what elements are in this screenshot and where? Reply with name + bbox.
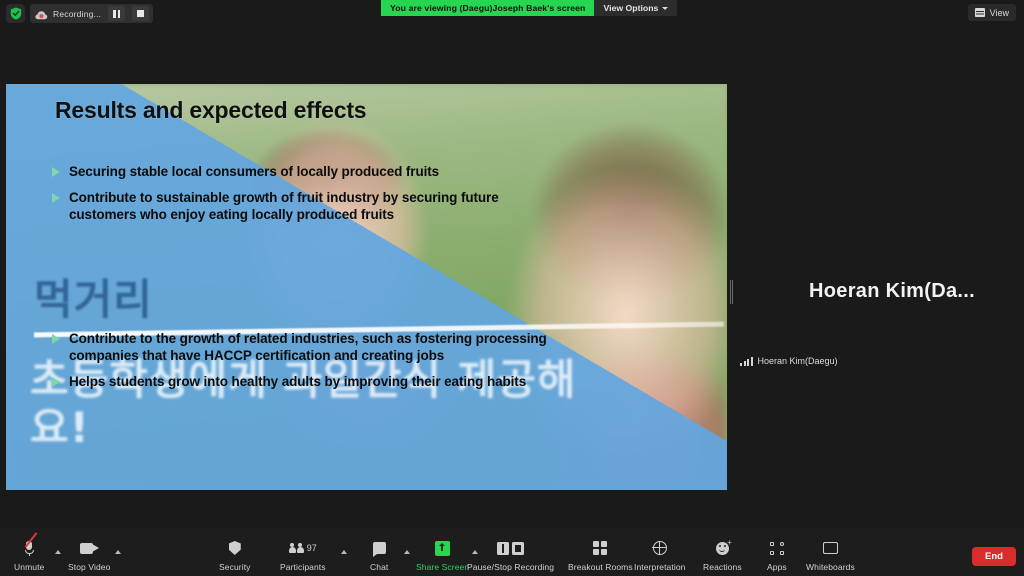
toolbar-label-interpretation: Interpretation [634,562,686,572]
participant-name-tag: Hoeran Kim(Daegu) [740,356,838,366]
bullet-triangle-icon [52,193,60,203]
toolbar-button-breakout-rooms[interactable]: Breakout Rooms [568,537,633,572]
chevron-down-icon [662,7,668,10]
layout-grid-icon [975,8,985,17]
chevron-up-icon [55,550,61,554]
toolbar-label-whiteboards: Whiteboards [806,562,855,572]
slide-bullet-item: Contribute to the growth of related indu… [52,330,552,364]
grid-squares-icon [593,537,607,559]
bullet-text: Helps students grow into healthy adults … [69,373,526,390]
active-speaker-panel[interactable]: Hoeran Kim(Da... Hoeran Kim(Daegu) [735,26,1024,524]
shield-icon [229,537,241,559]
toolbar-button-interpretation[interactable]: Interpretation [634,537,686,572]
toolbar-button-stop-video[interactable]: Stop Video [68,537,110,572]
toolbar-button-pause-stop-recording[interactable]: Pause/Stop Recording [467,537,554,572]
toolbar-label-breakout-rooms: Breakout Rooms [568,562,633,572]
toolbar-button-reactions[interactable]: + Reactions [703,537,742,572]
slide-title: Results and expected effects [55,97,366,124]
toolbar-button-share-screen[interactable]: Share Screen [416,537,469,572]
end-meeting-button[interactable]: End [972,547,1016,566]
participant-tag-label: Hoeran Kim(Daegu) [758,356,838,366]
toolbar-button-chat[interactable]: Chat [370,537,388,572]
view-layout-button[interactable]: View [968,4,1016,21]
globe-icon [653,537,667,559]
microphone-muted-icon [25,537,34,559]
apps-icon [770,537,784,559]
chat-options-caret[interactable] [404,550,410,554]
slide-bullet-item: Contribute to sustainable growth of frui… [52,189,552,223]
top-bar: Recording... You are viewing (Daegu)Jose… [0,0,1024,26]
bullet-text: Contribute to the growth of related indu… [69,330,552,364]
signal-bars-icon [740,357,753,366]
people-icon: 97 [289,537,317,559]
chevron-up-icon [404,550,410,554]
view-button-label: View [990,8,1009,18]
toolbar-label-pause-stop-recording: Pause/Stop Recording [467,562,554,572]
bullet-text: Securing stable local consumers of local… [69,163,439,180]
toolbar-label-reactions: Reactions [703,562,742,572]
video-options-caret[interactable] [115,550,121,554]
panel-drag-handle[interactable] [730,280,733,304]
meeting-toolbar: Unmute Stop Video Security 97 Participan… [0,528,1024,576]
smiley-plus-icon: + [716,537,729,559]
recording-label: Recording... [53,9,101,19]
bullet-triangle-icon [52,334,60,344]
bullet-text: Contribute to sustainable growth of frui… [69,189,552,223]
participants-options-caret[interactable] [341,550,347,554]
toolbar-button-unmute[interactable]: Unmute [14,537,44,572]
toolbar-button-security[interactable]: Security [219,537,251,572]
toolbar-label-apps: Apps [767,562,787,572]
recording-indicator-group: Recording... [6,4,153,23]
zoom-meeting-window: Recording... You are viewing (Daegu)Jose… [0,0,1024,576]
view-options-button[interactable]: View Options [594,0,677,16]
toolbar-label-share-screen: Share Screen [416,562,469,572]
pause-stop-icon [497,537,524,559]
active-speaker-name: Hoeran Kim(Da... [777,280,1007,303]
toolbar-label-unmute: Unmute [14,562,44,572]
toolbar-label-chat: Chat [370,562,388,572]
toolbar-label-security: Security [219,562,251,572]
slide-bullet-item: Helps students grow into healthy adults … [52,373,552,390]
view-options-label: View Options [603,3,658,13]
viewing-banner-group: You are viewing (Daegu)Joseph Baek's scr… [381,0,677,16]
unmute-options-caret[interactable] [55,550,61,554]
shield-check-icon[interactable] [6,4,25,23]
participants-count: 97 [307,543,317,553]
recording-pause-button[interactable] [108,6,125,21]
toolbar-label-participants: Participants [280,562,326,572]
viewing-banner: You are viewing (Daegu)Joseph Baek's scr… [381,0,594,16]
chevron-up-icon [115,550,121,554]
bullet-triangle-icon [52,167,60,177]
toolbar-button-whiteboards[interactable]: Whiteboards [806,537,855,572]
bullet-triangle-icon [52,377,60,387]
toolbar-button-participants[interactable]: 97 Participants [280,537,326,572]
korean-overlay-top: 먹거리 [34,266,153,327]
toolbar-label-stop-video: Stop Video [68,562,110,572]
toolbar-button-apps[interactable]: Apps [767,537,787,572]
recording-stop-button[interactable] [132,6,149,21]
chat-bubble-icon [373,537,386,559]
slide-bullet-list-top: Securing stable local consumers of local… [52,163,552,232]
chevron-up-icon [341,550,347,554]
slide-bullet-item: Securing stable local consumers of local… [52,163,552,180]
recording-pill: Recording... [30,4,153,23]
video-camera-icon [80,537,99,559]
whiteboard-icon [823,537,838,559]
shared-screen-content[interactable]: 먹거리 초등학생에게 과일간식 제공해요! Results and expect… [6,84,727,490]
recording-cloud-icon [35,8,48,19]
slide-bullet-list-bottom: Contribute to the growth of related indu… [52,330,552,399]
share-screen-icon [435,537,450,559]
